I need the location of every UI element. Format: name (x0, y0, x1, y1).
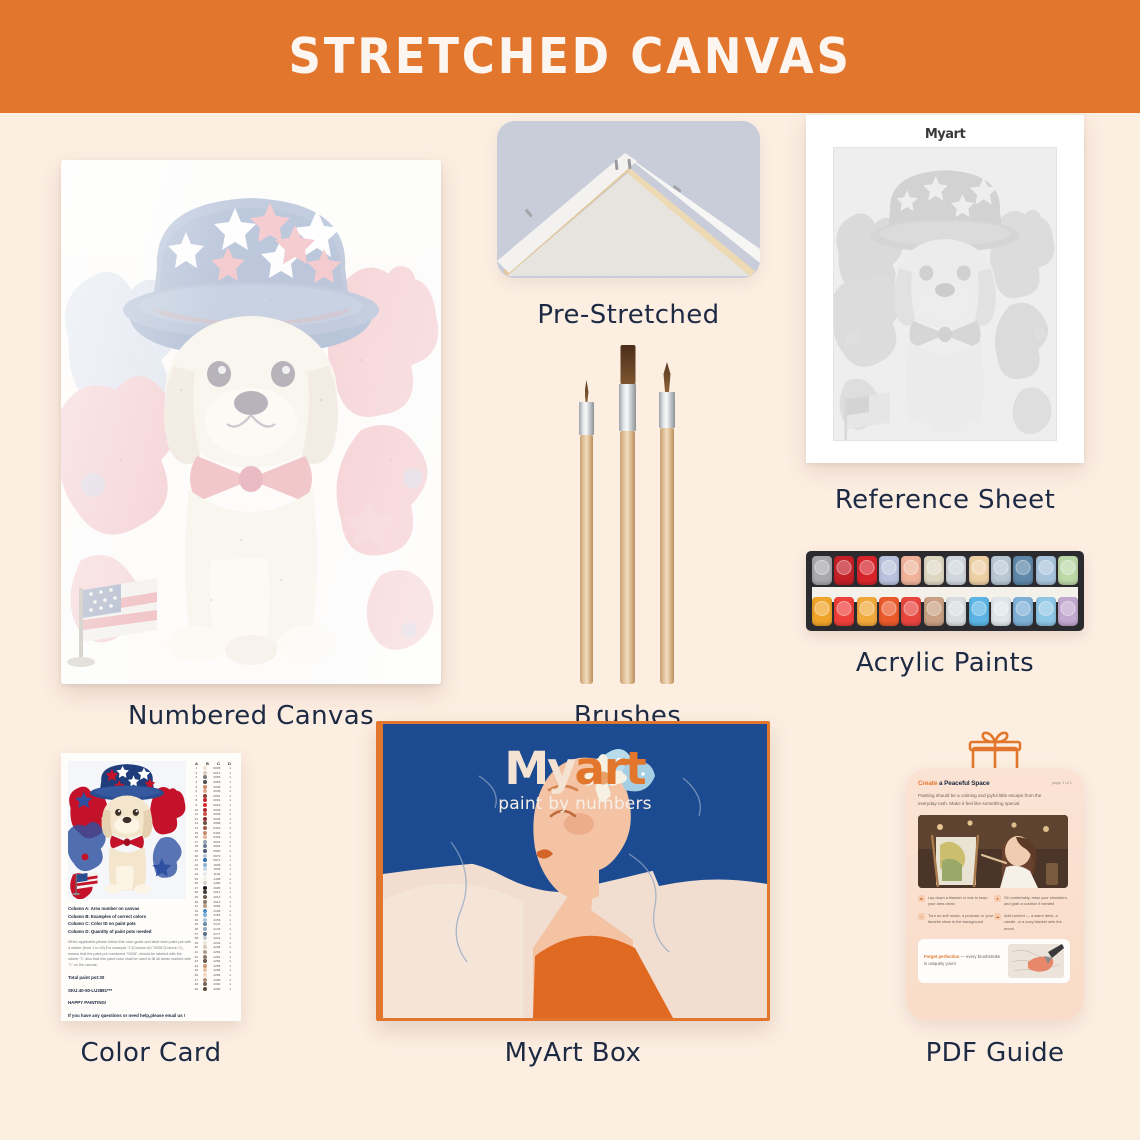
color-card-caption: Color Card (61, 1038, 241, 1068)
guide-tip: ■Lay down a blanket or mat to keep your … (918, 895, 994, 908)
chart-cell-area: 6 (192, 789, 200, 793)
chart-cell-qty: 1 (227, 877, 234, 881)
chart-cell-qty: 1 (227, 771, 234, 775)
chart-cell-qty: 1 (227, 886, 234, 890)
chart-cell-colorid: 2143 (210, 927, 224, 931)
chart-cell-colorid: 0069 (210, 780, 224, 784)
chart-cell-swatch (203, 987, 207, 991)
chart-cell-swatch (203, 886, 207, 890)
chart-cell-colorid: 0008 (210, 766, 224, 770)
paint-tray (806, 551, 1084, 631)
chart-cell-area: 9 (192, 803, 200, 807)
chart-cell-qty: 1 (227, 863, 234, 867)
chart-cell-qty: 1 (227, 785, 234, 789)
chart-cell-swatch (203, 955, 207, 959)
brush-ferrule (619, 384, 636, 431)
guide-tip-text: Turn on soft music, a podcast, or your f… (928, 913, 994, 932)
color-chart-row: 2411001 (191, 872, 235, 877)
guide-callout-image (1008, 944, 1064, 978)
color-chart-row: 4122541 (191, 950, 235, 955)
chart-cell-area: 46 (192, 973, 200, 977)
chart-cell-qty: 1 (227, 955, 234, 959)
chart-cell-colorid: 2177 (210, 932, 224, 936)
reference-sheet-item[interactable]: Myart (806, 115, 1084, 463)
pdf-guide-item[interactable]: page 1 of 1 Create a Peaceful Space Pain… (906, 731, 1084, 1021)
chart-cell-qty: 1 (227, 867, 234, 871)
chart-cell-area: 35 (192, 922, 200, 926)
gift-icon (967, 731, 1023, 773)
chart-cell-area: 2 (192, 771, 200, 775)
chart-cell-area: 31 (192, 904, 200, 908)
guide-photo-illustration (918, 815, 1068, 888)
myart-box-item[interactable]: Myart paint by numbers MyArt Box (376, 721, 770, 1021)
color-chart-row: 2000721 (191, 853, 235, 858)
chart-cell-area: 15 (192, 831, 200, 835)
paint-pot (812, 556, 832, 585)
chart-cell-area: 37 (192, 932, 200, 936)
chart-cell-area: 13 (192, 821, 200, 825)
chart-cell-area: 5 (192, 785, 200, 789)
chart-cell-swatch (203, 877, 207, 881)
chart-cell-area: 45 (192, 968, 200, 972)
color-chart-row: 1404221 (191, 826, 235, 831)
guide-callout-text: Forget perfection — every brushstroke is… (924, 954, 1002, 968)
chart-cell-qty: 1 (227, 968, 234, 972)
chart-cell-qty: 1 (227, 918, 234, 922)
chart-cell-colorid: 2109 (210, 909, 224, 913)
paint-pot (1013, 556, 1033, 585)
paint-pot (1013, 597, 1033, 626)
chart-cell-area: 25 (192, 877, 200, 881)
chart-cell-qty: 1 (227, 900, 234, 904)
guide-title: Create a Peaceful Space (918, 780, 1072, 787)
reference-sheet-frame (833, 147, 1057, 441)
color-chart-row: 1604091 (191, 835, 235, 840)
color-chart-row: 200131 (191, 771, 235, 776)
chart-cell-qty: 1 (227, 964, 234, 968)
color-chart-row: 600351 (191, 789, 235, 794)
chart-cell-area: 38 (192, 936, 200, 940)
chart-cell-colorid: 2013 (210, 895, 224, 899)
chart-cell-colorid: 0065 (210, 775, 224, 779)
chart-cell-colorid: 2308 (210, 978, 224, 982)
chart-cell-qty: 1 (227, 881, 234, 885)
chart-cell-qty: 1 (227, 826, 234, 830)
total-paint-pot: Total paint pot:30 (68, 974, 192, 981)
chart-cell-area: 36 (192, 927, 200, 931)
logo-art-text: art (575, 742, 646, 795)
guide-title-accent: Create (918, 780, 937, 787)
chart-cell-area: 33 (192, 913, 200, 917)
chart-cell-qty: 1 (227, 895, 234, 899)
chart-col-b: B (206, 761, 209, 766)
color-chart-row: 3120841 (191, 904, 235, 909)
chart-cell-qty: 1 (227, 945, 234, 949)
paint-pot (924, 556, 944, 585)
chart-cell-colorid: 2284 (210, 973, 224, 977)
chart-cell-colorid: 2200 (210, 987, 224, 991)
chart-cell-swatch (203, 941, 207, 945)
chart-cell-qty: 1 (227, 959, 234, 963)
color-chart-row: 4022461 (191, 945, 235, 950)
chart-cell-swatch (203, 771, 207, 775)
chart-cell-colorid: 1460 (210, 881, 224, 885)
color-chart-row: 4622841 (191, 973, 235, 978)
chart-cell-area: 8 (192, 798, 200, 802)
chart-cell-colorid: 0404 (210, 831, 224, 835)
color-chart-row: 1706321 (191, 840, 235, 845)
chart-cell-area: 24 (192, 872, 200, 876)
color-chart-row: 3621431 (191, 927, 235, 932)
color-chart-row: 4422551 (191, 964, 235, 969)
paint-pot (834, 556, 854, 585)
color-chart-row: 3922341 (191, 941, 235, 946)
page-title: STRETCHED CANVAS (288, 28, 851, 85)
chart-cell-area: 3 (192, 775, 200, 779)
chart-cell-qty: 1 (227, 978, 234, 982)
chart-cell-swatch (203, 918, 207, 922)
guide-tip-icon: ♪ (918, 913, 925, 920)
reference-sheet-caption: Reference Sheet (806, 485, 1084, 515)
color-chart-row: 700511 (191, 794, 235, 799)
paint-pot (924, 597, 944, 626)
chart-col-a: A (195, 761, 198, 766)
color-chart-row: 2614601 (191, 881, 235, 886)
brush-thin-round (580, 388, 593, 684)
chart-cell-colorid: 1468 (210, 877, 224, 881)
chart-cell-qty: 1 (227, 936, 234, 940)
chart-cell-qty: 1 (227, 831, 234, 835)
chart-cell-swatch (203, 900, 207, 904)
color-chart-row: 2820121 (191, 890, 235, 895)
chart-cell-area: 47 (192, 978, 200, 982)
chart-cell-area: 19 (192, 849, 200, 853)
myart-logo: Myart (383, 742, 767, 795)
guide-photo (918, 815, 1068, 888)
legend-line-a: Column A: Area number on canvas (68, 905, 192, 913)
guide-tip: ☁Add comfort — a warm drink, a candle, o… (994, 913, 1070, 932)
chart-cell-colorid: 2222 (210, 936, 224, 940)
paint-pot (1058, 597, 1078, 626)
myart-tagline: paint by numbers (383, 794, 767, 814)
pre-stretched-caption: Pre-Stretched (497, 300, 760, 330)
color-chart-row: 500361 (191, 784, 235, 789)
chart-cell-colorid: 2262 (210, 955, 224, 959)
chart-cell-swatch (203, 817, 207, 821)
chart-cell-colorid: 0632 (210, 840, 224, 844)
chart-cell-qty: 1 (227, 913, 234, 917)
chart-cell-area: 1 (192, 766, 200, 770)
chart-cell-qty: 1 (227, 808, 234, 812)
pdf-guide-caption: PDF Guide (906, 1038, 1084, 1068)
chart-cell-area: 23 (192, 867, 200, 871)
guide-tip-text: Lay down a blanket or mat to keep your a… (928, 895, 994, 908)
chart-cell-area: 29 (192, 895, 200, 899)
numbered-canvas-item[interactable]: Numbered Canvas (61, 160, 441, 684)
brush-tip (620, 345, 635, 384)
chart-cell-colorid: 0422 (210, 826, 224, 830)
color-chart-row: 2920131 (191, 895, 235, 900)
chart-cell-qty: 1 (227, 941, 234, 945)
brush-tip (585, 380, 589, 402)
reference-outline-artwork (834, 148, 1056, 441)
logo-my-text: My (504, 742, 574, 795)
legend-line-b: Column B: Examples of correct colors (68, 913, 192, 921)
chart-cell-swatch (203, 909, 207, 913)
chart-cell-colorid: 0019 (210, 803, 224, 807)
chart-cell-swatch (203, 808, 207, 812)
chart-cell-qty: 1 (227, 922, 234, 926)
chart-cell-qty: 1 (227, 844, 234, 848)
chart-cell-qty: 1 (227, 987, 234, 991)
chart-cell-qty: 1 (227, 835, 234, 839)
pre-stretched-item[interactable]: Pre-Stretched (497, 121, 760, 278)
color-card-artwork (68, 761, 186, 899)
chart-cell-area: 12 (192, 817, 200, 821)
happy-painting: HAPPY PAINTING! (68, 999, 192, 1006)
chart-cell-area: 49 (192, 987, 200, 991)
chart-cell-colorid: 0025 (210, 808, 224, 812)
legend-line-c: Column C: Color ID on paint pots (68, 920, 192, 928)
chart-cell-area: 26 (192, 881, 200, 885)
chart-cell-colorid: 2284 (210, 959, 224, 963)
myart-box-outer-edge: Myart paint by numbers (376, 721, 770, 1021)
color-chart-row: 4222621 (191, 954, 235, 959)
chart-cell-area: 7 (192, 794, 200, 798)
paint-pot (969, 597, 989, 626)
color-chart-row: 3721771 (191, 931, 235, 936)
chart-cell-colorid: 2255 (210, 964, 224, 968)
paint-pot (946, 597, 966, 626)
chart-cell-colorid: 2159 (210, 918, 224, 922)
chart-cell-colorid: 0088 (210, 821, 224, 825)
chart-cell-qty: 1 (227, 858, 234, 862)
chart-cell-area: 14 (192, 826, 200, 830)
chart-cell-colorid: 0026 (210, 817, 224, 821)
paint-pot (1036, 556, 1056, 585)
chart-cell-swatch (203, 840, 207, 844)
chart-cell-area: 42 (192, 955, 200, 959)
chart-cell-qty: 1 (227, 812, 234, 816)
chart-cell-colorid: 2084 (210, 904, 224, 908)
brush-ferrule (579, 402, 594, 435)
chart-cell-qty: 1 (227, 872, 234, 876)
chart-cell-colorid: 0972 (210, 858, 224, 862)
color-chart-row: 2215091 (191, 862, 235, 867)
paint-pot (969, 556, 989, 585)
chart-cell-colorid: 2246 (210, 945, 224, 949)
color-chart-row: 1300881 (191, 821, 235, 826)
color-card-photo (68, 761, 186, 899)
chart-cell-area: 48 (192, 982, 200, 986)
color-chart-row: 1200261 (191, 817, 235, 822)
chart-cell-qty: 1 (227, 849, 234, 853)
color-chart-row: 800341 (191, 798, 235, 803)
color-chart-row: 3822221 (191, 936, 235, 941)
chart-cell-colorid: 0660 (210, 849, 224, 853)
canvas-frame-corner-illustration (497, 121, 760, 278)
guide-tip-text: Sit comfortably, relax your shoulders, a… (1004, 895, 1070, 908)
color-chart-row: 1100361 (191, 812, 235, 817)
chart-cell-area: 21 (192, 858, 200, 862)
color-chart-row: 100081 (191, 766, 235, 771)
chart-cell-colorid: 2014 (210, 900, 224, 904)
color-chart-row: 3020141 (191, 899, 235, 904)
color-chart-row: 2720051 (191, 885, 235, 890)
color-chart-row: 1806621 (191, 844, 235, 849)
chart-cell-qty: 1 (227, 794, 234, 798)
chart-cell-colorid: 0662 (210, 844, 224, 848)
paint-by-numbers-artwork (61, 160, 441, 684)
color-chart-row: 900191 (191, 803, 235, 808)
color-chart-row: 4723081 (191, 977, 235, 982)
brushes-item[interactable]: Brushes (540, 345, 715, 684)
product-grid: Numbered Canvas (0, 113, 1140, 1140)
chart-cell-area: 39 (192, 941, 200, 945)
chart-cell-area: 18 (192, 844, 200, 848)
chart-cell-qty: 1 (227, 789, 234, 793)
callout-brush-illustration (1008, 944, 1064, 978)
chart-cell-colorid: 2152 (210, 913, 224, 917)
brush-handle (660, 428, 674, 684)
myart-box-face: Myart paint by numbers (383, 724, 767, 1018)
guide-tip: ♪Turn on soft music, a podcast, or your … (918, 913, 994, 932)
chart-cell-area: 43 (192, 959, 200, 963)
paint-pot (879, 597, 899, 626)
chart-cell-colorid: 0034 (210, 798, 224, 802)
paint-pot (857, 597, 877, 626)
chart-col-c: C (217, 761, 220, 766)
chart-cell-qty: 1 (227, 890, 234, 894)
color-chart-rows: 1000812001313006514006915003616003517005… (191, 766, 235, 991)
legend-line-d: Column D: Quantity of paint pots needed (68, 928, 192, 936)
chart-cell-qty: 1 (227, 904, 234, 908)
color-chart-row: 2514681 (191, 876, 235, 881)
brush-flat (620, 345, 635, 684)
paint-pot (857, 556, 877, 585)
chart-cell-area: 4 (192, 780, 200, 784)
color-chart-row: 300651 (191, 775, 235, 780)
brush-handle (580, 435, 593, 684)
guide-tip-text: Add comfort — a warm drink, a candle, or… (1004, 913, 1070, 932)
chart-cell-colorid: 0051 (210, 794, 224, 798)
chart-cell-qty: 1 (227, 821, 234, 825)
chart-cell-qty: 1 (227, 982, 234, 986)
paint-row-top (812, 556, 1078, 585)
chart-cell-swatch (203, 831, 207, 835)
chart-cell-colorid: 2012 (210, 890, 224, 894)
guide-tip-list: ■Lay down a blanket or mat to keep your … (918, 895, 1070, 938)
chart-cell-colorid: 0035 (210, 789, 224, 793)
chart-cell-qty: 1 (227, 766, 234, 770)
sku-code: SKU:40-50-LU3881*** (68, 987, 192, 994)
chart-cell-qty: 1 (227, 798, 234, 802)
paint-pot (1036, 597, 1056, 626)
chart-cell-colorid: 2254 (210, 950, 224, 954)
brush-handle (620, 431, 635, 684)
paint-row-bottom (812, 597, 1078, 626)
chart-cell-colorid: 2300 (210, 982, 224, 986)
paint-pot (946, 556, 966, 585)
chart-cell-area: 22 (192, 863, 200, 867)
guide-tip-icon: ■ (918, 895, 925, 902)
chart-cell-area: 32 (192, 909, 200, 913)
chart-cell-area: 17 (192, 840, 200, 844)
paint-pot (879, 556, 899, 585)
chart-cell-area: 30 (192, 900, 200, 904)
color-chart-row: 1504041 (191, 830, 235, 835)
acrylic-paints-item[interactable]: Acrylic Paints (806, 551, 1084, 631)
color-chart-row: 1000251 (191, 807, 235, 812)
callout-bold: Forget perfection (924, 954, 959, 959)
color-card-text: Column A: Area number on canvas Column B… (68, 905, 192, 1019)
chart-cell-swatch (203, 978, 207, 982)
chart-cell-colorid: 0013 (210, 771, 224, 775)
chart-cell-area: 28 (192, 890, 200, 894)
chart-cell-qty: 1 (227, 927, 234, 931)
numbered-canvas-image (61, 160, 441, 684)
guide-title-rest: a Peaceful Space (937, 780, 989, 787)
chart-cell-swatch (203, 854, 207, 858)
brush-tip (664, 362, 671, 392)
chart-cell-swatch (203, 794, 207, 798)
chart-cell-qty: 1 (227, 973, 234, 977)
chart-cell-area: 44 (192, 964, 200, 968)
chart-cell-colorid: 2234 (210, 941, 224, 945)
color-chart-row: 400691 (191, 780, 235, 785)
chart-cell-colorid: 2298 (210, 968, 224, 972)
color-chart-row: 2315091 (191, 867, 235, 872)
chart-cell-swatch (203, 932, 207, 936)
color-chart: A B C D 10008120013130065140069150036160… (191, 761, 235, 991)
guide-lede: Painting should be a calming and joyful … (918, 792, 1054, 808)
chart-cell-qty: 1 (227, 950, 234, 954)
chart-cell-colorid: 2005 (210, 886, 224, 890)
chart-cell-qty: 1 (227, 817, 234, 821)
color-chart-row: 4522981 (191, 968, 235, 973)
chart-cell-swatch (203, 964, 207, 968)
paint-pot (834, 597, 854, 626)
chart-cell-colorid: 0036 (210, 785, 224, 789)
color-chart-row: 2109721 (191, 858, 235, 863)
paint-pot (901, 556, 921, 585)
reference-sheet-paper: Myart (806, 115, 1084, 463)
guide-tip-icon: ● (994, 895, 1001, 902)
paint-pot (812, 597, 832, 626)
guide-tip-icon: ☁ (994, 913, 1001, 920)
color-card-item[interactable]: A B C D 10008120013130065140069150036160… (61, 753, 241, 1021)
chart-cell-area: 11 (192, 812, 200, 816)
color-chart-row: 3421591 (191, 918, 235, 923)
chart-cell-colorid: 1509 (210, 863, 224, 867)
chart-cell-qty: 1 (227, 803, 234, 807)
chart-cell-colorid: 1100 (210, 872, 224, 876)
guide-page-number: page 1 of 1 (1052, 780, 1072, 785)
chart-cell-colorid: 2147 (210, 922, 224, 926)
chart-cell-area: 27 (192, 886, 200, 890)
chart-cell-area: 41 (192, 950, 200, 954)
chart-cell-area: 20 (192, 854, 200, 858)
reference-sheet-logo: Myart (806, 127, 1084, 142)
chart-cell-qty: 1 (227, 840, 234, 844)
acrylic-paints-caption: Acrylic Paints (806, 648, 1084, 678)
contact-line: If you have any questions or need help,p… (68, 1012, 192, 1019)
color-chart-row: 3521471 (191, 922, 235, 927)
brush-ferrule (659, 392, 675, 428)
chart-cell-area: 16 (192, 835, 200, 839)
paint-pot (991, 556, 1011, 585)
pdf-guide-page: page 1 of 1 Create a Peaceful Space Pain… (906, 768, 1084, 1021)
